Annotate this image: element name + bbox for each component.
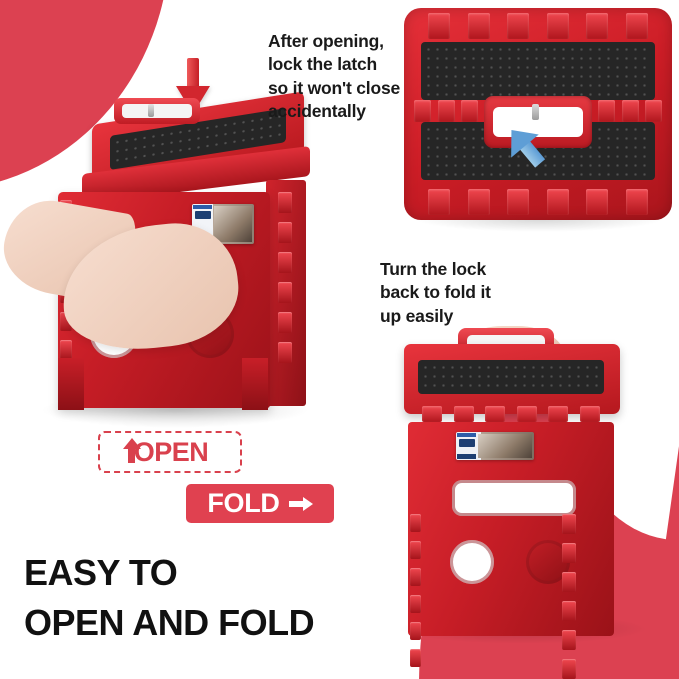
infographic-canvas: After opening, lock the latch so it won'…: [0, 0, 679, 679]
photo-folded-stool-top-view: [404, 8, 672, 220]
stool-leg-right: [242, 358, 268, 410]
photo-folded-stool-carried: [404, 336, 652, 636]
anti-slip-pad-upper: [421, 42, 655, 100]
hinge-tabs-top: [428, 13, 648, 39]
caption-lock-the-latch: After opening, lock the latch so it won'…: [268, 30, 410, 123]
hinge-tabs-mid-left: [414, 100, 478, 122]
caption-turn-the-lock-back: Turn the lock back to fold it up easily: [380, 258, 540, 328]
latch-icon: [532, 104, 539, 120]
fold-badge-label: FOLD: [207, 488, 279, 519]
hinge-tabs-folded: [422, 406, 600, 422]
product-label-sticker-folded: [456, 432, 534, 460]
anti-slip-pad-folded: [418, 360, 604, 394]
hinge-column-folded-right: [562, 514, 576, 679]
hinge-column-folded-left: [410, 514, 421, 667]
stool-top-panel-folded: [404, 344, 620, 414]
fold-badge: FOLD: [186, 484, 334, 523]
open-badge: OPEN: [98, 431, 242, 473]
stool-front-panel-folded: [408, 422, 614, 636]
hinge-tabs-mid-right: [598, 100, 662, 122]
stool-hole-left-folded: [450, 540, 494, 584]
arrow-right-icon: [289, 497, 313, 511]
stool-front-slot-folded: [452, 480, 576, 516]
page-title: EASY TO OPEN AND FOLD: [24, 548, 314, 647]
hinge-column-right: [278, 192, 292, 363]
open-badge-label: OPEN: [134, 437, 209, 468]
photo-open-step-stool: [44, 108, 316, 408]
stool-leg-left: [58, 358, 84, 410]
stool-handle-main: [114, 98, 200, 124]
hinge-tabs-bottom: [428, 189, 648, 215]
latch-icon-main: [148, 104, 154, 117]
